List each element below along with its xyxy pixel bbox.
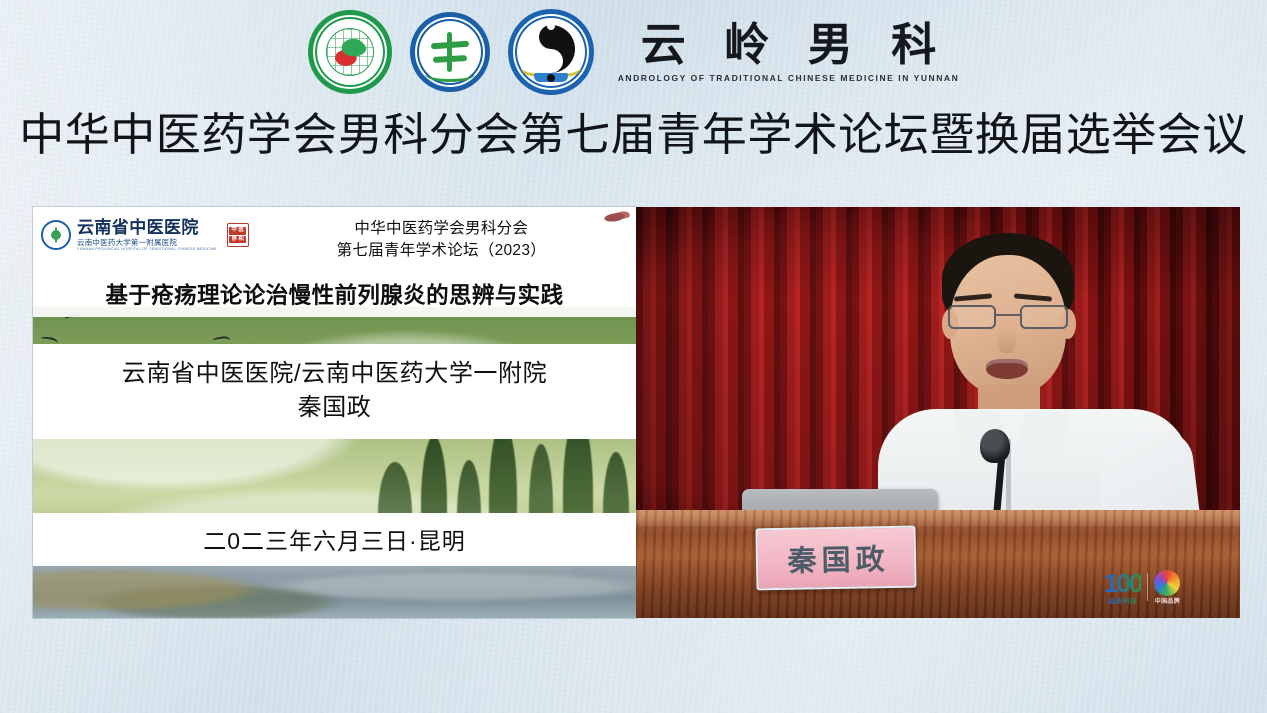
speaker-photo: 秦国政 100 品质科技 中国品牌 <box>636 207 1240 618</box>
hospital-name-en: YUNNAN PROVINCIAL HOSPITAL OF TRADITIONA… <box>77 248 217 252</box>
slide-date-location: 二0二三年六月三日·昆明 <box>33 513 636 566</box>
nose <box>998 329 1016 353</box>
speaker-nameplate: 秦国政 <box>755 526 916 591</box>
brand-name-en: ANDROLOGY OF TRADITIONAL CHINESE MEDICIN… <box>618 73 960 83</box>
brand-name-cn: 云 岭 男 科 <box>628 21 950 68</box>
sponsor-divider <box>1147 573 1148 601</box>
china-association-of-chinese-medicine-logo-icon <box>308 10 392 94</box>
sponsor-secondary-caption: 中国品牌 <box>1155 599 1180 605</box>
seal-line-1: 中 医 <box>229 227 246 235</box>
slide-footer-landscape <box>33 566 636 618</box>
conference-banner-title: 中华中医药学会男科分会第七届青年学术论坛暨换届选举会议 <box>0 108 1267 161</box>
slide-affiliation: 云南省中医医院/云南中医药大学一附院 <box>33 357 636 391</box>
decorative-brush-icon <box>603 209 630 224</box>
taiji-dot-black <box>547 74 555 82</box>
page-masthead: 云 岭 男 科 ANDROLOGY OF TRADITIONAL CHINESE… <box>0 0 1267 104</box>
emblem-row: 云 岭 男 科 ANDROLOGY OF TRADITIONAL CHINESE… <box>308 9 960 95</box>
sponsor-100-logo-icon: 100 品质科技 <box>1104 570 1141 605</box>
conference-line-2: 第七届青年学术论坛（2023） <box>259 240 624 262</box>
slide-header: 云南省中医医院 云南中医药大学第一附属医院 YUNNAN PROVINCIAL … <box>33 207 636 279</box>
hospital-badge-icon <box>41 220 71 250</box>
slide-body-text: 云南省中医医院/云南中医药大学一附院 秦国政 <box>33 344 636 439</box>
yunnan-provincial-hospital-logo-icon <box>410 12 490 92</box>
microphone-icon <box>980 429 1010 463</box>
brand-wordmark: 云 岭 男 科 ANDROLOGY OF TRADITIONAL CHINESE… <box>618 21 960 82</box>
nameplate-text: 秦国政 <box>782 536 890 580</box>
sponsor-secondary-logo-icon: 中国品牌 <box>1154 570 1180 605</box>
bird-icon <box>213 336 227 343</box>
conference-info-block: 中华中医药学会男科分会 第七届青年学术论坛（2023） <box>259 216 624 262</box>
podium-top-edge <box>636 510 1240 526</box>
red-seal-icon: 中 医 协 和 <box>227 223 249 247</box>
taiji-dot-white <box>547 22 555 30</box>
hospital-name-block: 云南省中医医院 云南中医药大学第一附属医院 YUNNAN PROVINCIAL … <box>77 219 217 252</box>
conference-line-1: 中华中医药学会男科分会 <box>259 218 624 240</box>
hospital-logo-block: 云南省中医医院 云南中医药大学第一附属医院 YUNNAN PROVINCIAL … <box>41 219 249 252</box>
mouth <box>986 359 1028 379</box>
hospital-name-cn: 云南省中医医院 <box>77 219 217 236</box>
emblem-ring-text <box>312 14 388 90</box>
sponsor-logo-block: 100 品质科技 中国品牌 <box>1104 562 1222 612</box>
hospital-name-sub: 云南中医药大学第一附属医院 <box>77 239 217 247</box>
colorful-mark-icon <box>1154 570 1180 596</box>
content-row: 云南省中医医院 云南中医药大学第一附属医院 YUNNAN PROVINCIAL … <box>33 207 1240 618</box>
wheat-wreath-icon <box>425 66 475 82</box>
sponsor-caption: 品质科技 <box>1108 598 1138 605</box>
slide-main-title: 基于疮疡理论论治慢性前列腺炎的思辨与实践 <box>33 273 636 317</box>
sponsor-number: 100 <box>1104 570 1141 596</box>
glasses-icon <box>948 305 1068 329</box>
seal-line-2: 协 和 <box>229 236 246 244</box>
andrology-tcm-yunnan-logo-icon <box>508 9 594 95</box>
presentation-slide: 云南省中医医院 云南中医药大学第一附属医院 YUNNAN PROVINCIAL … <box>33 207 636 618</box>
slide-presenter: 秦国政 <box>33 391 636 425</box>
